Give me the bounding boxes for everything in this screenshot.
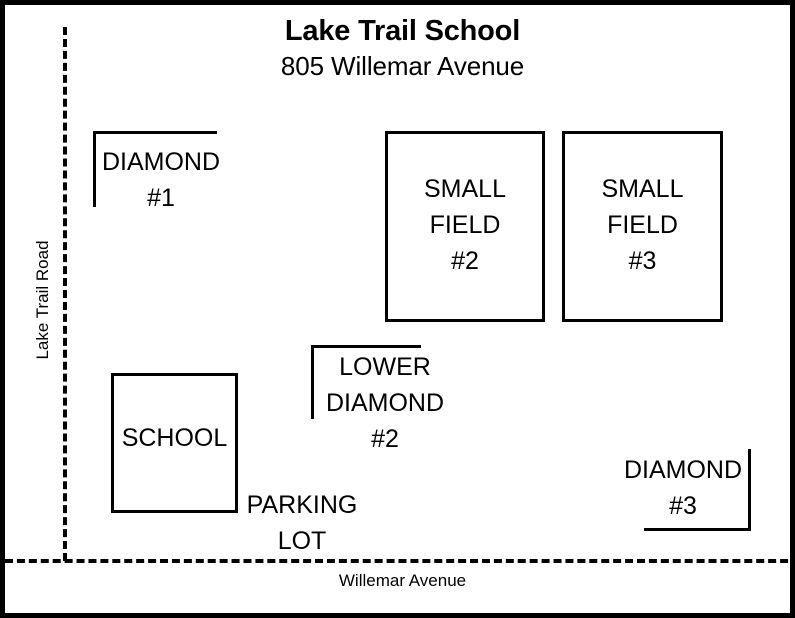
parking-lot-label-line2: LOT <box>238 523 366 559</box>
small-field-3-label-line1: SMALL <box>562 171 723 207</box>
small-field-2-label-line3: #2 <box>385 243 545 279</box>
diamond-3-label-line1: DIAMOND <box>615 452 751 488</box>
diamond-1-label: DIAMOND #1 <box>93 144 229 216</box>
page-subtitle: 805 Willemar Avenue <box>5 49 795 83</box>
diamond-3-label: DIAMOND #3 <box>615 452 751 524</box>
small-field-3-label-line2: FIELD <box>562 207 723 243</box>
willemar-avenue-label: Willemar Avenue <box>5 571 795 591</box>
diamond-3-label-line2: #3 <box>615 488 751 524</box>
parking-lot-label-line1: PARKING <box>238 487 366 523</box>
small-field-2-label: SMALL FIELD #2 <box>385 171 545 279</box>
small-field-2-label-line2: FIELD <box>385 207 545 243</box>
diamond-1-label-line1: DIAMOND <box>93 144 229 180</box>
school-building-label: SCHOOL <box>111 420 238 456</box>
school-building-label-line1: SCHOOL <box>111 420 238 456</box>
lower-diamond-2-label: LOWER DIAMOND #2 <box>311 349 459 457</box>
diamond-1-label-line2: #1 <box>93 180 229 216</box>
lower-diamond-2-label-line3: #2 <box>311 421 459 457</box>
school-site-map: Lake Trail School 805 Willemar Avenue La… <box>0 0 795 618</box>
lake-trail-road-line <box>63 27 67 561</box>
small-field-3-label-line3: #3 <box>562 243 723 279</box>
parking-lot-label: PARKING LOT <box>238 487 366 559</box>
title-block: Lake Trail School 805 Willemar Avenue <box>5 13 795 83</box>
small-field-2-label-line1: SMALL <box>385 171 545 207</box>
willemar-avenue-line <box>5 559 795 563</box>
page-title: Lake Trail School <box>5 13 795 49</box>
lower-diamond-2-label-line1: LOWER <box>311 349 459 385</box>
small-field-3-label: SMALL FIELD #3 <box>562 171 723 279</box>
lake-trail-road-label: Lake Trail Road <box>33 230 53 370</box>
lower-diamond-2-label-line2: DIAMOND <box>311 385 459 421</box>
